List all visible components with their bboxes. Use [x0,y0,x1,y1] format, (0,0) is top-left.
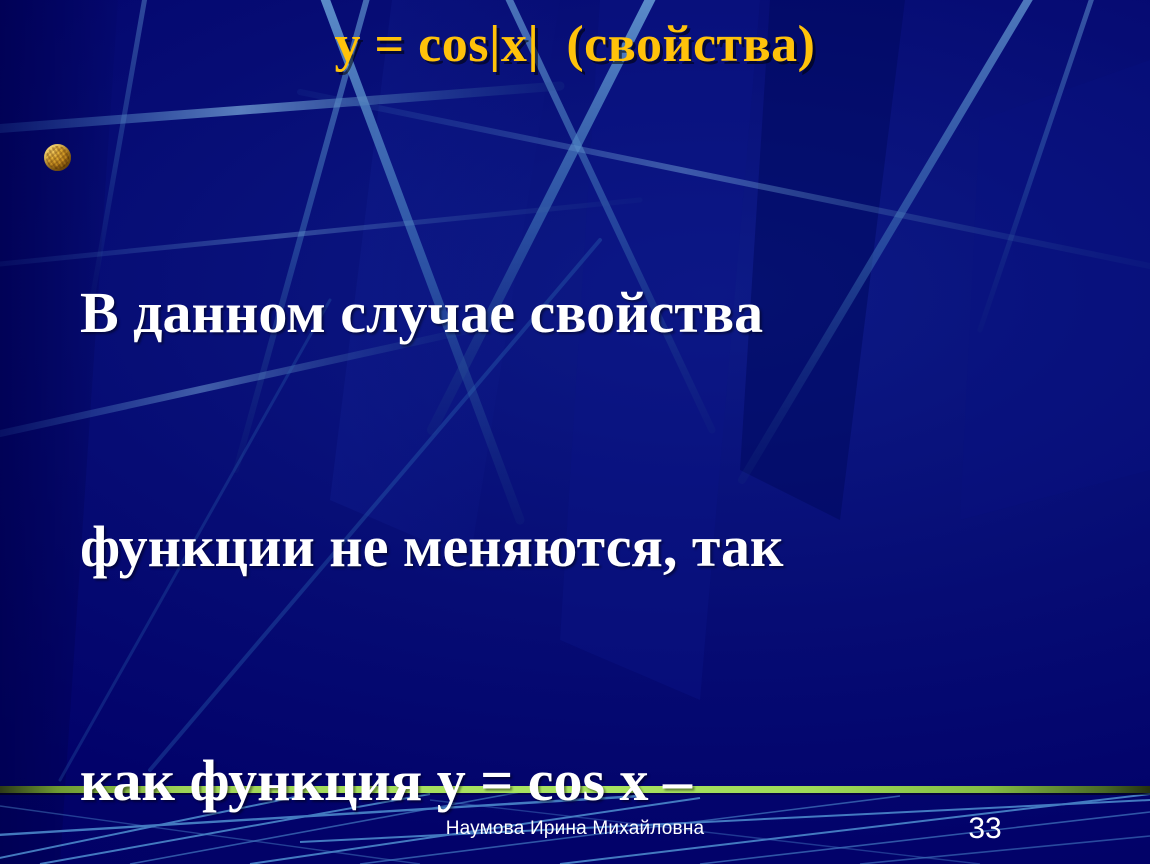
body-line: функции не меняются, так [80,508,1121,586]
body-line: как функция y = cos x – [80,742,1121,820]
body-text-lines: В данном случае свойства функции не меня… [36,118,1121,864]
slide-title: y = cos|x| (свойства) [0,18,1150,73]
presentation-slide: y = cos|x| (свойства) В данном случае св… [0,0,1150,864]
slide-number: 33 [955,812,1015,846]
gold-sphere-bullet-icon [44,144,71,171]
slide-body: В данном случае свойства функции не меня… [36,118,1121,864]
body-line: В данном случае свойства [80,274,1121,352]
